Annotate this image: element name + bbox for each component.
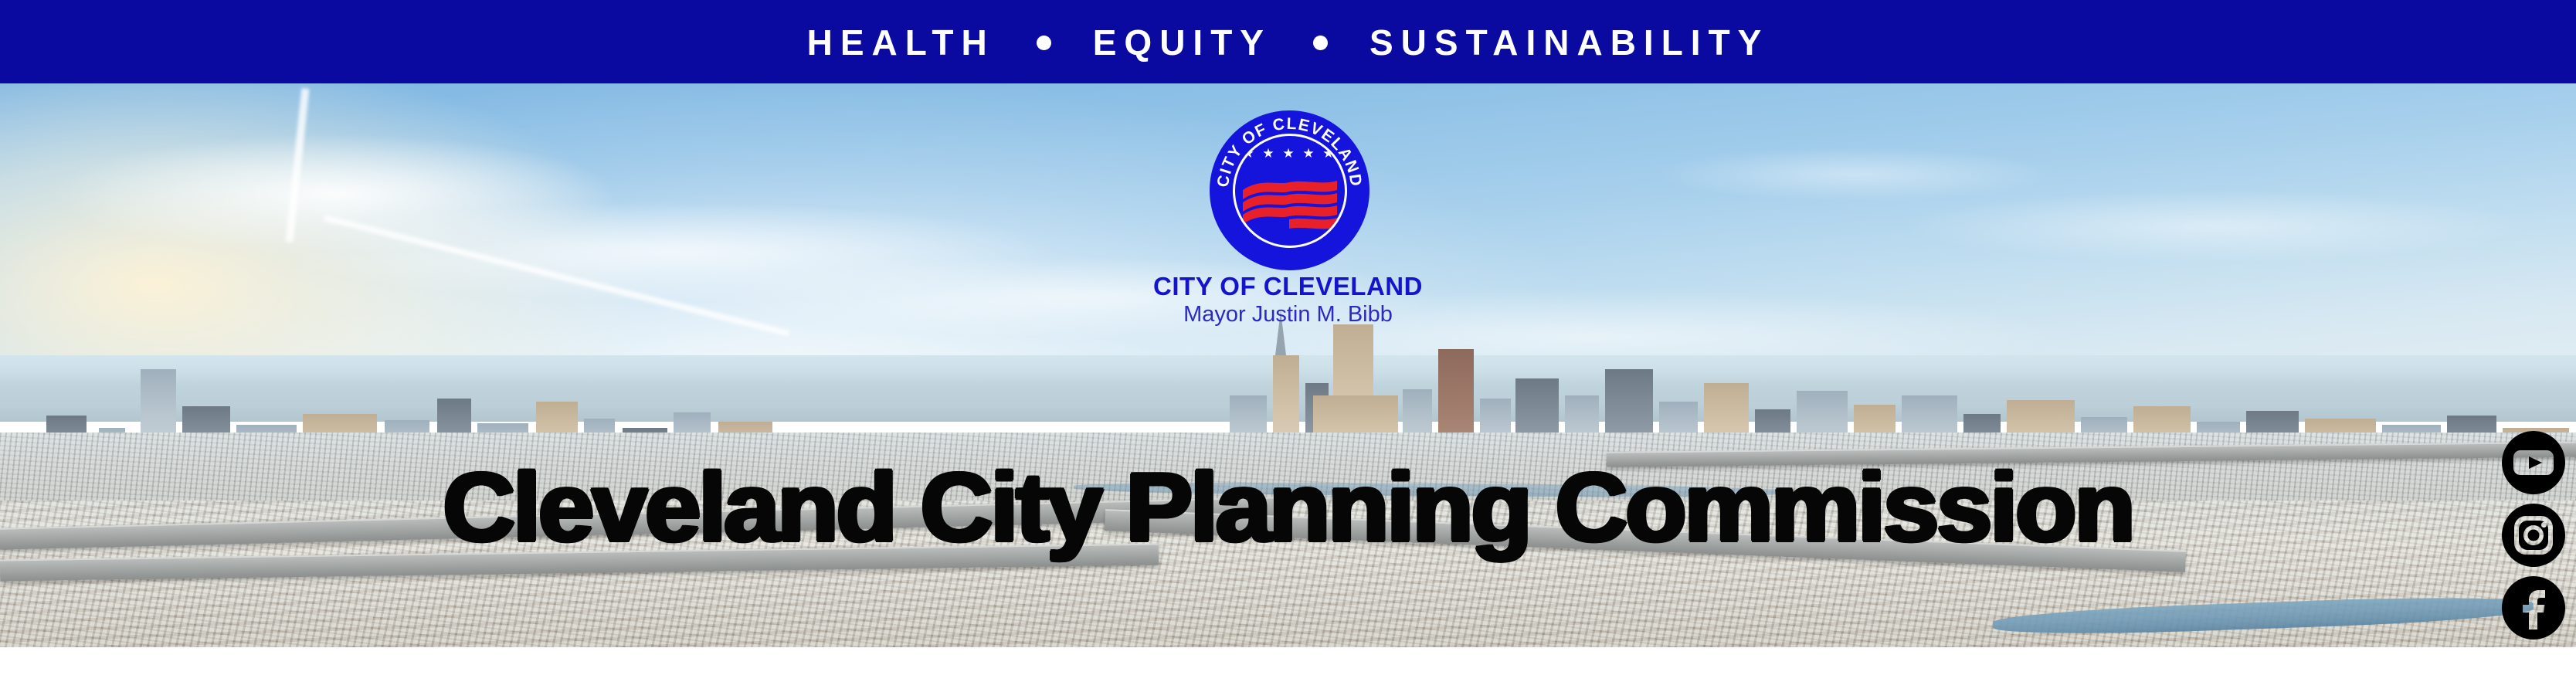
bottom-white-strip [0, 647, 2576, 682]
page-title: Cleveland City Planning Commission [0, 459, 2576, 556]
seal-inner-disc: ★ ★ ★ ★ ★ [1233, 134, 1347, 248]
tagline-word-sustainability: SUSTAINABILITY [1369, 25, 1769, 60]
instagram-icon[interactable] [2497, 499, 2570, 572]
youtube-icon[interactable] [2497, 426, 2570, 499]
banner-page: HEALTH EQUITY SUSTAINABILITY [0, 0, 2576, 682]
city-of-cleveland-seal[interactable]: CITY OF CLEVELAND OHIO ★ ★ ★ ★ ★ [1210, 110, 1369, 270]
facebook-icon[interactable] [2497, 572, 2570, 644]
seal-stars: ★ ★ ★ ★ ★ [1235, 147, 1345, 160]
tagline-separator-dot-2 [1313, 36, 1328, 50]
tagline-separator-dot-1 [1037, 36, 1051, 50]
tagline-word-equity: EQUITY [1093, 25, 1271, 60]
hero-photo: CITY OF CLEVELAND OHIO ★ ★ ★ ★ ★ [0, 83, 2576, 647]
tagline-inner: HEALTH EQUITY SUSTAINABILITY [807, 25, 1770, 60]
seal-waving-flag-icon [1241, 173, 1339, 235]
tagline-bar: HEALTH EQUITY SUSTAINABILITY [0, 0, 2576, 83]
tagline-word-health: HEALTH [807, 25, 995, 60]
social-links [2497, 426, 2570, 644]
